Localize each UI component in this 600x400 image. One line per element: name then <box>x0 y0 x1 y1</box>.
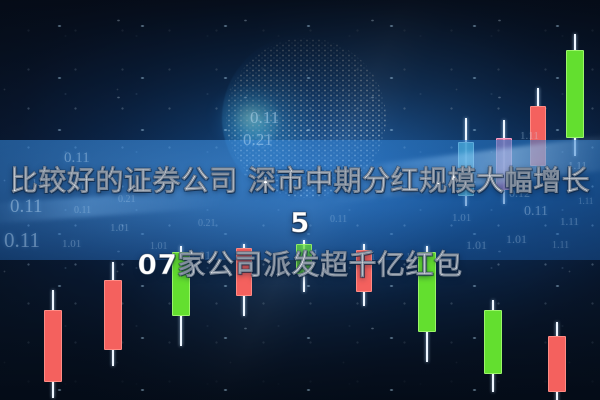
candlestick-body <box>44 310 62 382</box>
candlestick-body <box>484 310 502 374</box>
candlestick-body <box>548 336 566 392</box>
headline-line-2: 07家公司派发超千亿红包 <box>0 244 600 286</box>
candlestick-body <box>104 280 122 350</box>
news-banner-image: 0.110.210.111.011.010.110.111.010.111.01… <box>0 0 600 400</box>
candlestick-body <box>566 50 584 138</box>
headline-line-1: 比较好的证券公司 深市中期分红规模大幅增长 5 <box>0 160 600 244</box>
page-title: 比较好的证券公司 深市中期分红规模大幅增长 5 07家公司派发超千亿红包 <box>0 160 600 286</box>
